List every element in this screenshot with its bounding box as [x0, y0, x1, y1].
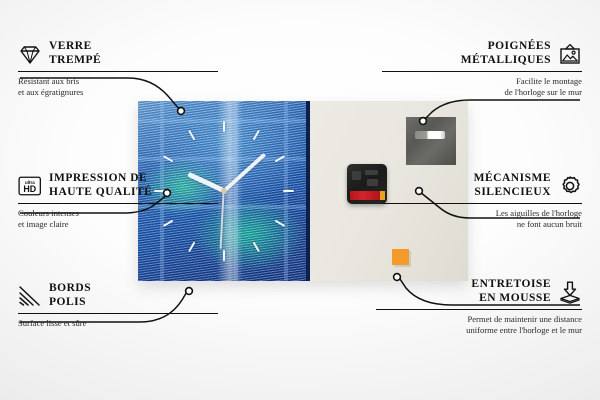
- callout-header: VERRE TREMPÉ: [18, 40, 218, 67]
- callout-subtitle: Facilite le montage de l'horloge sur le …: [382, 76, 582, 99]
- callout-entretoise-mousse: ENTRETOISE EN MOUSSE Permet de maintenir…: [376, 278, 582, 337]
- callout-subtitle: Permet de maintenir une distance uniform…: [376, 314, 582, 337]
- callout-mecanisme-silencieux: MÉCANISME SILENCIEUX Les aiguilles de l'…: [382, 172, 582, 231]
- foam-spacer: [392, 249, 409, 265]
- callout-header: ultra HD IMPRESSION DE HAUTE QUALITÉ: [18, 172, 218, 199]
- battery: [350, 191, 382, 200]
- metal-bracket-icon: [406, 117, 456, 165]
- picture-frame-hanger-icon: [558, 42, 582, 66]
- divider: [382, 71, 582, 72]
- infographic-canvas: VERRE TREMPÉ Résistant aux bris et aux é…: [0, 0, 600, 400]
- gear-icon: [558, 174, 582, 198]
- callout-title: IMPRESSION DE HAUTE QUALITÉ: [49, 172, 152, 199]
- callout-title: MÉCANISME SILENCIEUX: [474, 172, 551, 199]
- divider: [18, 71, 218, 72]
- diagonal-lines-icon: [18, 284, 42, 308]
- callout-header: POIGNÉES MÉTALLIQUES: [382, 40, 582, 67]
- press-down-arrow-icon: [558, 280, 582, 304]
- callout-subtitle: Couleurs intenses et image claire: [18, 208, 218, 231]
- callout-title: ENTRETOISE EN MOUSSE: [471, 278, 551, 305]
- callout-subtitle: Surface lisse et sûre: [18, 318, 218, 329]
- diamond-icon: [18, 42, 42, 66]
- callout-title: POIGNÉES MÉTALLIQUES: [461, 40, 551, 67]
- callout-verre-trempe: VERRE TREMPÉ Résistant aux bris et aux é…: [18, 40, 218, 99]
- divider: [18, 203, 218, 204]
- divider: [18, 313, 218, 314]
- quartz-mechanism: [347, 164, 387, 204]
- hour-tick: [224, 190, 294, 192]
- svg-text:HD: HD: [23, 184, 36, 194]
- callout-title: VERRE TREMPÉ: [49, 40, 101, 67]
- hour-tick: [223, 121, 225, 191]
- callout-impression-hd: ultra HD IMPRESSION DE HAUTE QUALITÉ Cou…: [18, 172, 218, 231]
- callout-header: ENTRETOISE EN MOUSSE: [376, 278, 582, 305]
- callout-subtitle: Les aiguilles de l'horloge ne font aucun…: [382, 208, 582, 231]
- callout-bords-polis: BORDS POLIS Surface lisse et sûre: [18, 282, 218, 329]
- ultra-hd-icon: ultra HD: [18, 174, 42, 198]
- divider: [376, 309, 582, 310]
- callout-poignees-metalliques: POIGNÉES MÉTALLIQUES Facilite le montage…: [382, 40, 582, 99]
- callout-subtitle: Résistant aux bris et aux égratignures: [18, 76, 218, 99]
- callout-title: BORDS POLIS: [49, 282, 91, 309]
- callout-header: BORDS POLIS: [18, 282, 218, 309]
- mechanism-hook: [360, 157, 374, 166]
- divider: [382, 203, 582, 204]
- center-pin: [221, 188, 227, 194]
- callout-header: MÉCANISME SILENCIEUX: [382, 172, 582, 199]
